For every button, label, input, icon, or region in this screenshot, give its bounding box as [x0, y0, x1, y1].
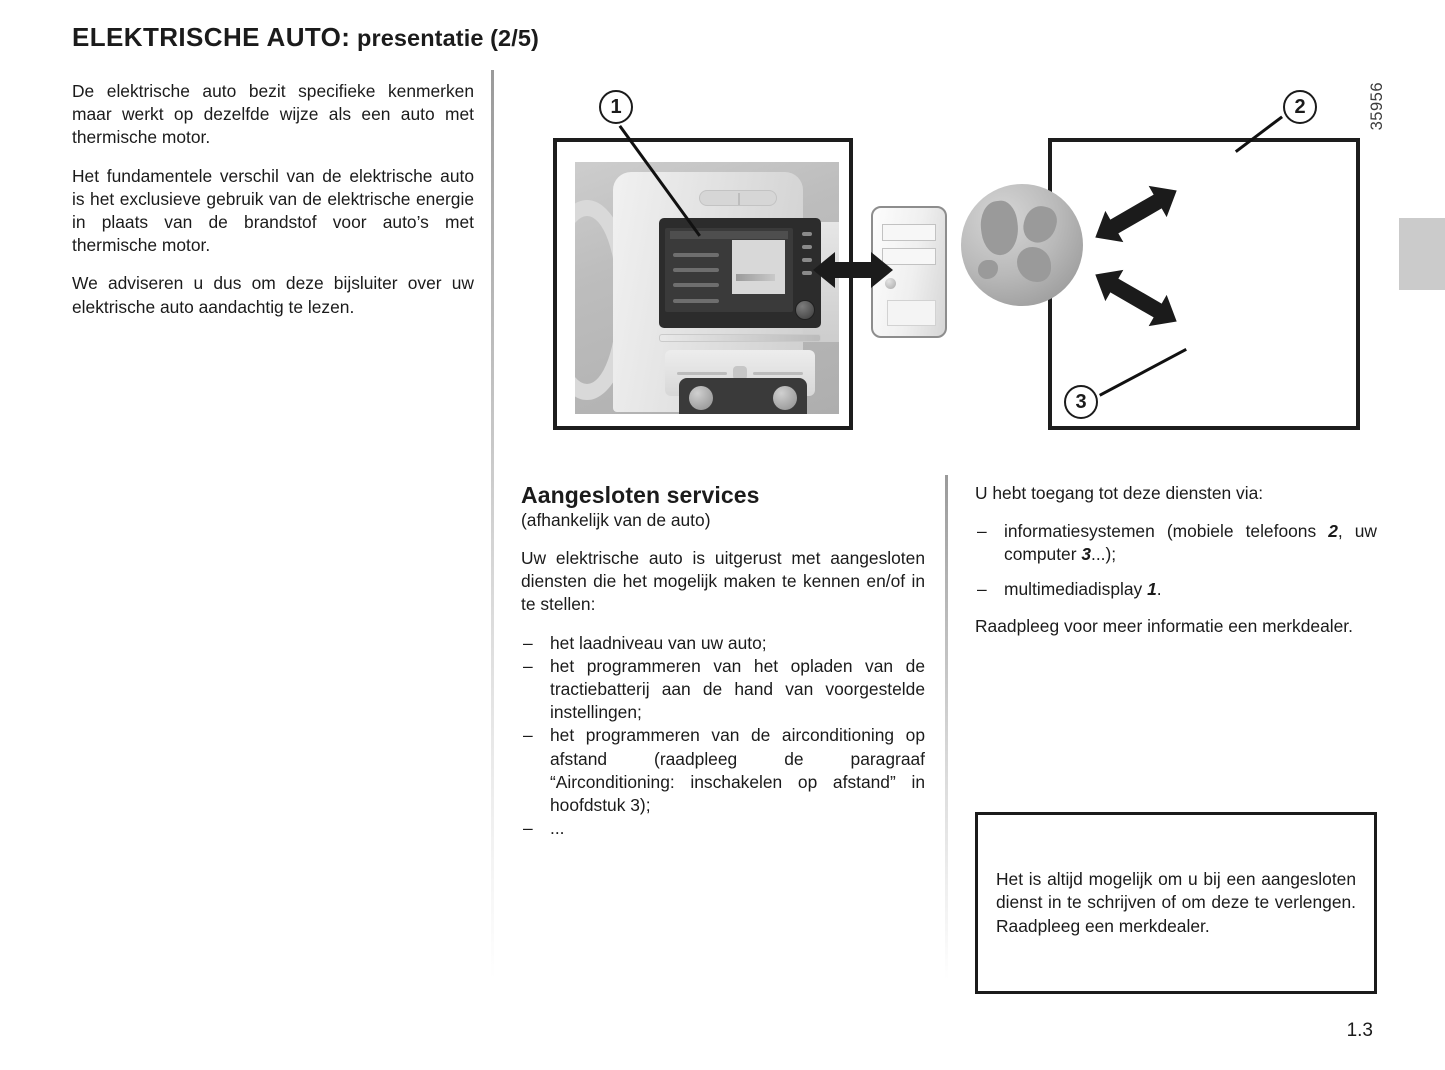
page-title-main: ELEKTRISCHE AUTO: — [72, 22, 350, 52]
arrow-globe-to-laptop — [1081, 258, 1191, 338]
column-divider-middle — [945, 475, 948, 980]
manual-page: ELEKTRISCHE AUTO: presentatie (2/5) De e… — [0, 0, 1445, 1070]
right-closing-paragraph: Raadpleeg voor meer informatie een merkd… — [975, 615, 1377, 638]
callout-badge-3: 3 — [1064, 385, 1098, 419]
list-item-text: ... — [550, 818, 565, 838]
multimedia-screen — [665, 228, 793, 312]
bullet-dash: – — [977, 578, 987, 601]
bullet-dash: – — [523, 632, 533, 655]
callout-badge-2: 2 — [1283, 90, 1317, 124]
right-text-column: U hebt toegang tot deze diensten via: –i… — [975, 482, 1377, 638]
right-intro-paragraph: U hebt toegang tot deze diensten via: — [975, 482, 1377, 505]
illustration-reference-number: 35956 — [1368, 82, 1387, 130]
list-item-text-mid: . — [1157, 579, 1162, 599]
left-text-column: De elektrische auto bezit specifieke ken… — [72, 80, 474, 319]
multimedia-screen-bezel — [659, 218, 821, 328]
screen-menu-row-1 — [673, 253, 719, 257]
arrow-car-to-server — [813, 248, 893, 292]
reference-marker-2: 2 — [1328, 521, 1338, 541]
chapter-tab-marker — [1399, 218, 1445, 290]
middle-text-column: Aangesloten services (afhankelijk van de… — [521, 482, 925, 854]
list-item-text: het programmeren van het opladen van de … — [550, 656, 925, 722]
list-item: – ... — [521, 817, 925, 840]
arrow-globe-to-phone — [1081, 174, 1191, 254]
list-item-text: het programmeren van de airconditioning … — [550, 725, 925, 815]
bullet-dash: – — [523, 817, 533, 840]
column-divider-left — [491, 70, 494, 980]
list-item: – het laadniveau van uw auto; — [521, 632, 925, 655]
left-paragraph-1: De elektrische auto bezit specifieke ken… — [72, 80, 474, 150]
page-title: ELEKTRISCHE AUTO: presentatie (2/5) — [72, 22, 539, 53]
bullet-dash: – — [977, 520, 987, 543]
left-paragraph-3: We adviseren u dus om deze bijsluiter ov… — [72, 272, 474, 318]
list-item-text-post: ...); — [1091, 544, 1116, 564]
middle-bullet-list: – het laadniveau van uw auto; – het prog… — [521, 632, 925, 841]
defroster-vent — [699, 190, 777, 206]
list-item: – het programmeren van het opladen van d… — [521, 655, 925, 725]
screen-menu-row-2 — [673, 268, 719, 272]
screen-status-bar — [670, 231, 788, 239]
dashboard-console — [613, 172, 803, 412]
left-paragraph-2: Het fundamentele verschil van de elektri… — [72, 165, 474, 258]
power-knob — [795, 300, 815, 320]
note-box-text: Het is altijd mogelijk om u bij een aang… — [978, 868, 1374, 938]
page-number: 1.3 — [1347, 1020, 1373, 1042]
climate-control-panel — [679, 378, 807, 414]
console-trim-strip — [659, 334, 821, 342]
callout-3-label: 3 — [1075, 391, 1086, 414]
list-item: –multimediadisplay 1. — [975, 578, 1377, 601]
list-item-text-pre: informatiesystemen (mobiele telefoons — [1004, 521, 1328, 541]
bullet-dash: – — [523, 655, 533, 678]
reference-marker-1: 1 — [1147, 579, 1157, 599]
list-item: – het programmeren van de airconditionin… — [521, 724, 925, 817]
middle-intro-paragraph: Uw elektrische auto is uitgerust met aan… — [521, 547, 925, 617]
car-dashboard-frame — [553, 138, 853, 430]
callout-1-label: 1 — [610, 96, 621, 119]
connected-services-illustration: 35956 — [521, 78, 1391, 448]
car-dashboard-photo — [575, 162, 839, 414]
callout-2-label: 2 — [1294, 96, 1305, 119]
right-bullet-list: –informatiesystemen (mobiele telefoons 2… — [975, 520, 1377, 601]
screen-menu-row-4 — [673, 299, 719, 303]
page-title-sub: presentatie (2/5) — [350, 25, 539, 51]
screen-map-area — [732, 240, 786, 294]
reference-marker-3: 3 — [1081, 544, 1091, 564]
section-subtitle: (afhankelijk van de auto) — [521, 509, 925, 531]
list-item: –informatiesystemen (mobiele telefoons 2… — [975, 520, 1377, 566]
list-item-text-pre: multimediadisplay — [1004, 579, 1147, 599]
climate-knob-left — [689, 386, 713, 410]
list-item-text: het laadniveau van uw auto; — [550, 633, 767, 653]
bullet-dash: – — [523, 724, 533, 747]
section-title: Aangesloten services — [521, 482, 925, 509]
globe-icon — [961, 184, 1083, 306]
climate-knob-right — [773, 386, 797, 410]
callout-badge-1: 1 — [599, 90, 633, 124]
screen-menu-row-3 — [673, 283, 719, 287]
information-note-box: Het is altijd mogelijk om u bij een aang… — [975, 812, 1377, 994]
